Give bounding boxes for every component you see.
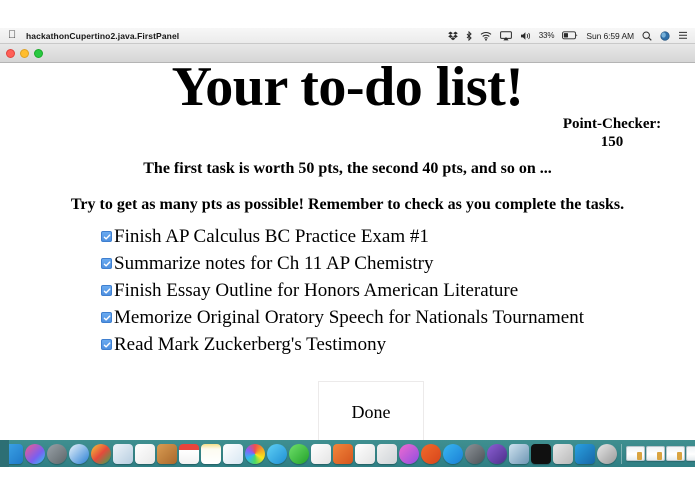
task-label: Finish AP Calculus BC Practice Exam #1 xyxy=(114,227,429,246)
photos-icon[interactable] xyxy=(223,444,243,464)
eclipse-icon[interactable] xyxy=(487,444,507,464)
dock-minimized-window[interactable] xyxy=(686,446,695,461)
books-icon[interactable] xyxy=(333,444,353,464)
calendar-icon[interactable] xyxy=(179,444,199,464)
image-capture-icon[interactable] xyxy=(509,444,529,464)
task-row[interactable]: Summarize notes for Ch 11 AP Chemistry xyxy=(101,250,661,277)
menu-bar-clock[interactable]: Sun 6:59 AM xyxy=(586,31,634,41)
vscode-icon[interactable] xyxy=(575,444,595,464)
macos-dock xyxy=(0,440,695,467)
scoring-description: The first task is worth 50 pts, the seco… xyxy=(0,160,695,178)
task-list: Finish AP Calculus BC Practice Exam #1 S… xyxy=(101,223,661,358)
notes-icon[interactable] xyxy=(201,444,221,464)
system-preferences-icon[interactable] xyxy=(465,444,485,464)
screenshot-icon[interactable] xyxy=(597,444,617,464)
point-checker-value: 150 xyxy=(532,133,692,151)
wifi-icon[interactable] xyxy=(480,31,492,41)
task-checkbox[interactable] xyxy=(101,258,112,269)
user-account-icon[interactable] xyxy=(660,31,670,41)
menu-bar-status-group: 33% Sun 6:59 AM xyxy=(448,31,695,41)
volume-icon[interactable] xyxy=(520,31,531,41)
dock-minimized-window[interactable] xyxy=(666,446,685,461)
facetime-icon[interactable] xyxy=(289,444,309,464)
safari-icon[interactable] xyxy=(69,444,89,464)
java-icon[interactable] xyxy=(553,444,573,464)
task-row[interactable]: Read Mark Zuckerberg's Testimony xyxy=(101,331,661,358)
appstore-icon[interactable] xyxy=(443,444,463,464)
screen:  hackathonCupertino2.java.FirstPanel 33… xyxy=(0,0,695,494)
podcasts-icon[interactable] xyxy=(421,444,441,464)
preview-icon[interactable] xyxy=(113,444,133,464)
battery-icon[interactable] xyxy=(562,31,578,40)
dock-left-edge xyxy=(0,440,9,467)
task-label: Read Mark Zuckerberg's Testimony xyxy=(114,335,386,354)
task-row[interactable]: Finish AP Calculus BC Practice Exam #1 xyxy=(101,223,661,250)
terminal-icon[interactable] xyxy=(531,444,551,464)
done-button[interactable]: Done xyxy=(318,381,424,443)
minimize-button[interactable] xyxy=(20,49,29,58)
launchpad-icon[interactable] xyxy=(47,444,67,464)
airplay-icon[interactable] xyxy=(500,31,512,41)
numbers-icon[interactable] xyxy=(355,444,375,464)
siri-icon[interactable] xyxy=(25,444,45,464)
task-label: Finish Essay Outline for Honors American… xyxy=(114,281,518,300)
menu-bar-left-group:  hackathonCupertino2.java.FirstPanel xyxy=(0,30,179,41)
textedit-icon[interactable] xyxy=(135,444,155,464)
window-traffic-lights xyxy=(6,49,43,58)
close-button[interactable] xyxy=(6,49,15,58)
point-checker: Point-Checker: 150 xyxy=(532,115,692,152)
dock-minimized-window[interactable] xyxy=(626,446,645,461)
page-title: Your to-do list! xyxy=(0,58,695,117)
apple-logo-icon[interactable]:  xyxy=(8,30,17,41)
reminders-icon[interactable] xyxy=(311,444,331,464)
bluetooth-icon[interactable] xyxy=(466,31,472,41)
itunes-icon[interactable] xyxy=(399,444,419,464)
notification-center-icon[interactable] xyxy=(678,31,688,40)
spotlight-search-icon[interactable] xyxy=(642,31,652,41)
macos-menu-bar:  hackathonCupertino2.java.FirstPanel 33… xyxy=(0,28,695,44)
task-row[interactable]: Finish Essay Outline for Honors American… xyxy=(101,277,661,304)
menu-bar-app-title[interactable]: hackathonCupertino2.java.FirstPanel xyxy=(26,31,179,41)
instructions-text: Try to get as many pts as possible! Reme… xyxy=(0,196,695,214)
battery-percent-label[interactable]: 33% xyxy=(539,31,555,40)
photos-flower-icon[interactable] xyxy=(245,444,265,464)
dropbox-icon[interactable] xyxy=(448,31,458,41)
keynote-icon[interactable] xyxy=(377,444,397,464)
contacts-icon[interactable] xyxy=(157,444,177,464)
task-checkbox[interactable] xyxy=(101,339,112,350)
task-checkbox[interactable] xyxy=(101,285,112,296)
task-label: Summarize notes for Ch 11 AP Chemistry xyxy=(114,254,433,273)
below-dock-area xyxy=(0,467,695,494)
chrome-icon[interactable] xyxy=(91,444,111,464)
app-content: Your to-do list! Point-Checker: 150 The … xyxy=(0,63,695,440)
task-checkbox[interactable] xyxy=(101,312,112,323)
task-row[interactable]: Memorize Original Oratory Speech for Nat… xyxy=(101,304,661,331)
dock-minimized-window[interactable] xyxy=(646,446,665,461)
zoom-button[interactable] xyxy=(34,49,43,58)
messages-icon[interactable] xyxy=(267,444,287,464)
point-checker-label: Point-Checker: xyxy=(532,115,692,133)
task-checkbox[interactable] xyxy=(101,231,112,242)
dock-separator xyxy=(621,444,622,464)
task-label: Memorize Original Oratory Speech for Nat… xyxy=(114,308,584,327)
